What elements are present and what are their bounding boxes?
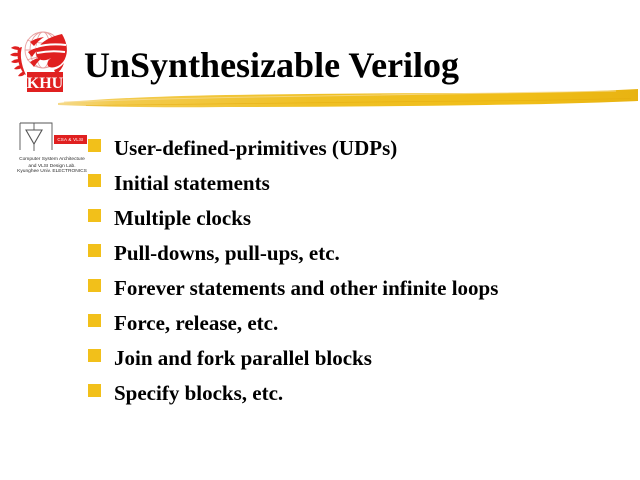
list-item-label: Multiple clocks: [114, 206, 251, 231]
list-item-label: Force, release, etc.: [114, 311, 278, 336]
khu-university-logo: KHU: [6, 26, 80, 94]
list-item: Join and fork parallel blocks: [88, 346, 636, 381]
list-item: Specify blocks, etc.: [88, 381, 636, 416]
list-item: Initial statements: [88, 171, 636, 206]
list-item-label: Forever statements and other infinite lo…: [114, 276, 498, 301]
list-item-label: Pull-downs, pull-ups, etc.: [114, 241, 340, 266]
square-bullet-icon: [88, 384, 101, 397]
page-title: UnSynthesizable Verilog: [84, 43, 459, 87]
square-bullet-icon: [88, 314, 101, 327]
square-bullet-icon: [88, 349, 101, 362]
list-item: Multiple clocks: [88, 206, 636, 241]
lab-badge-text: CSA & VLSI Lab.: [54, 135, 87, 144]
square-bullet-icon: [88, 209, 101, 222]
square-bullet-icon: [88, 139, 101, 152]
list-item-label: User-defined-primitives (UDPs): [114, 136, 397, 161]
csa-vlsi-lab-logo: CSA & VLSI Lab. Computer System Architec…: [12, 120, 92, 182]
square-bullet-icon: [88, 174, 101, 187]
square-bullet-icon: [88, 244, 101, 257]
emblem-flame: [28, 34, 67, 74]
list-item-label: Join and fork parallel blocks: [114, 346, 372, 371]
list-item: Force, release, etc.: [88, 311, 636, 346]
list-item: Pull-downs, pull-ups, etc.: [88, 241, 636, 276]
list-item: Forever statements and other infinite lo…: [88, 276, 636, 311]
yellow-brush-divider: [56, 86, 640, 112]
list-item: User-defined-primitives (UDPs): [88, 136, 636, 171]
list-item-label: Specify blocks, etc.: [114, 381, 283, 406]
bullet-list: User-defined-primitives (UDPs) Initial s…: [88, 136, 636, 416]
list-item-label: Initial statements: [114, 171, 270, 196]
laurel-wreath-icon: [10, 46, 26, 76]
square-bullet-icon: [88, 279, 101, 292]
